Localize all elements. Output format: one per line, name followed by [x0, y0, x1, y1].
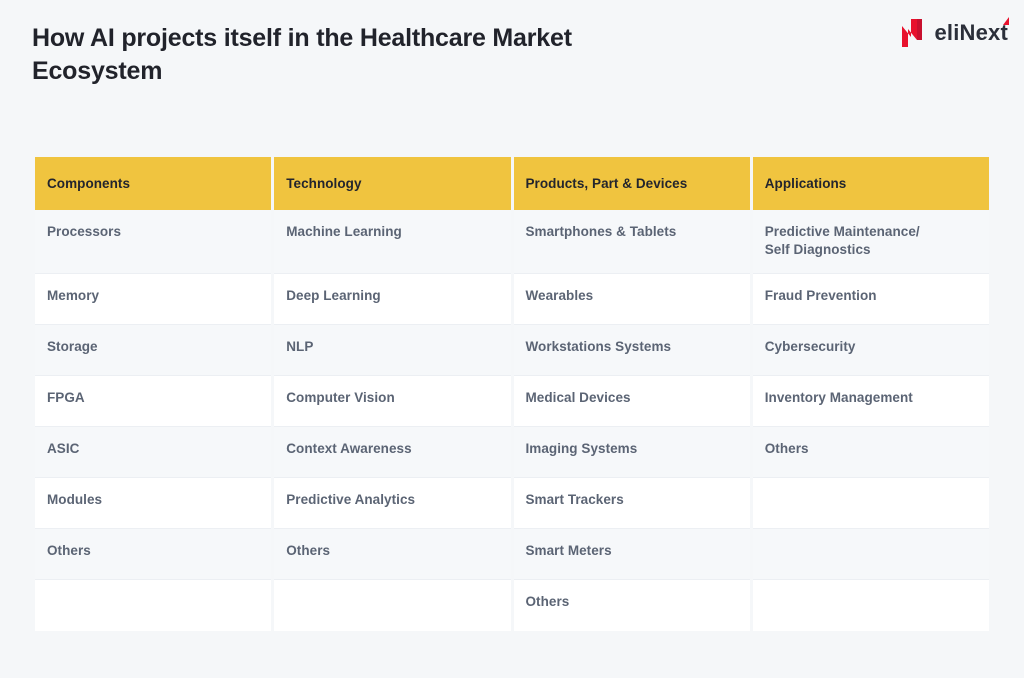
cell-technology: Computer Vision [274, 376, 510, 427]
cell-applications: Inventory Management [753, 376, 989, 427]
column-header-technology: Technology [274, 157, 510, 210]
cell-technology: Predictive Analytics [274, 478, 510, 529]
cell-applications: Fraud Prevention [753, 274, 989, 325]
cell-applications [753, 580, 989, 631]
infographic-page: How AI projects itself in the Healthcare… [0, 0, 1024, 678]
cell-technology: Deep Learning [274, 274, 510, 325]
table-row: Storage NLP Workstations Systems Cyberse… [35, 325, 989, 376]
cell-technology: Machine Learning [274, 210, 510, 274]
cell-products: Smartphones & Tablets [514, 210, 750, 274]
cell-applications [753, 478, 989, 529]
cell-applications: Predictive Maintenance/ Self Diagnostics [753, 210, 989, 274]
cell-products: Workstations Systems [514, 325, 750, 376]
table-row: Processors Machine Learning Smartphones … [35, 210, 989, 274]
cell-products: Medical Devices [514, 376, 750, 427]
table-row: ASIC Context Awareness Imaging Systems O… [35, 427, 989, 478]
cell-components: Processors [35, 210, 271, 274]
cell-components: Memory [35, 274, 271, 325]
cell-applications-line: Predictive Maintenance/ [765, 223, 977, 241]
brand-logo: eliNext [899, 17, 1008, 49]
table-row: FPGA Computer Vision Medical Devices Inv… [35, 376, 989, 427]
cell-products: Others [514, 580, 750, 631]
cell-components: Modules [35, 478, 271, 529]
cell-technology [274, 580, 510, 631]
table-row: Memory Deep Learning Wearables Fraud Pre… [35, 274, 989, 325]
cell-technology: NLP [274, 325, 510, 376]
table-row: Others [35, 580, 989, 631]
cell-products: Imaging Systems [514, 427, 750, 478]
column-header-components: Components [35, 157, 271, 210]
brand-name: eliNext [934, 22, 1008, 44]
cell-applications: Others [753, 427, 989, 478]
page-title: How AI projects itself in the Healthcare… [32, 22, 652, 88]
table-head: Components Technology Products, Part & D… [35, 157, 989, 210]
elinext-n-logomark-icon [899, 17, 925, 49]
cell-applications: Cybersecurity [753, 325, 989, 376]
cell-components: Storage [35, 325, 271, 376]
table-header-row: Components Technology Products, Part & D… [35, 157, 989, 210]
cell-products: Wearables [514, 274, 750, 325]
column-header-applications: Applications [753, 157, 989, 210]
brand-name-text: eliNext [934, 20, 1008, 45]
cell-components: FPGA [35, 376, 271, 427]
table-row: Others Others Smart Meters [35, 529, 989, 580]
cell-components: ASIC [35, 427, 271, 478]
table-body: Processors Machine Learning Smartphones … [35, 210, 989, 631]
cell-products: Smart Meters [514, 529, 750, 580]
cell-applications [753, 529, 989, 580]
brand-accent-tick-icon [1003, 17, 1009, 25]
matrix-table-wrapper: Components Technology Products, Part & D… [32, 157, 992, 631]
market-ecosystem-table: Components Technology Products, Part & D… [32, 157, 992, 631]
table-row: Modules Predictive Analytics Smart Track… [35, 478, 989, 529]
cell-technology: Context Awareness [274, 427, 510, 478]
page-header: How AI projects itself in the Healthcare… [0, 0, 1024, 120]
cell-technology: Others [274, 529, 510, 580]
cell-applications-line: Self Diagnostics [765, 241, 977, 259]
cell-products: Smart Trackers [514, 478, 750, 529]
column-header-products: Products, Part & Devices [514, 157, 750, 210]
cell-components [35, 580, 271, 631]
cell-components: Others [35, 529, 271, 580]
